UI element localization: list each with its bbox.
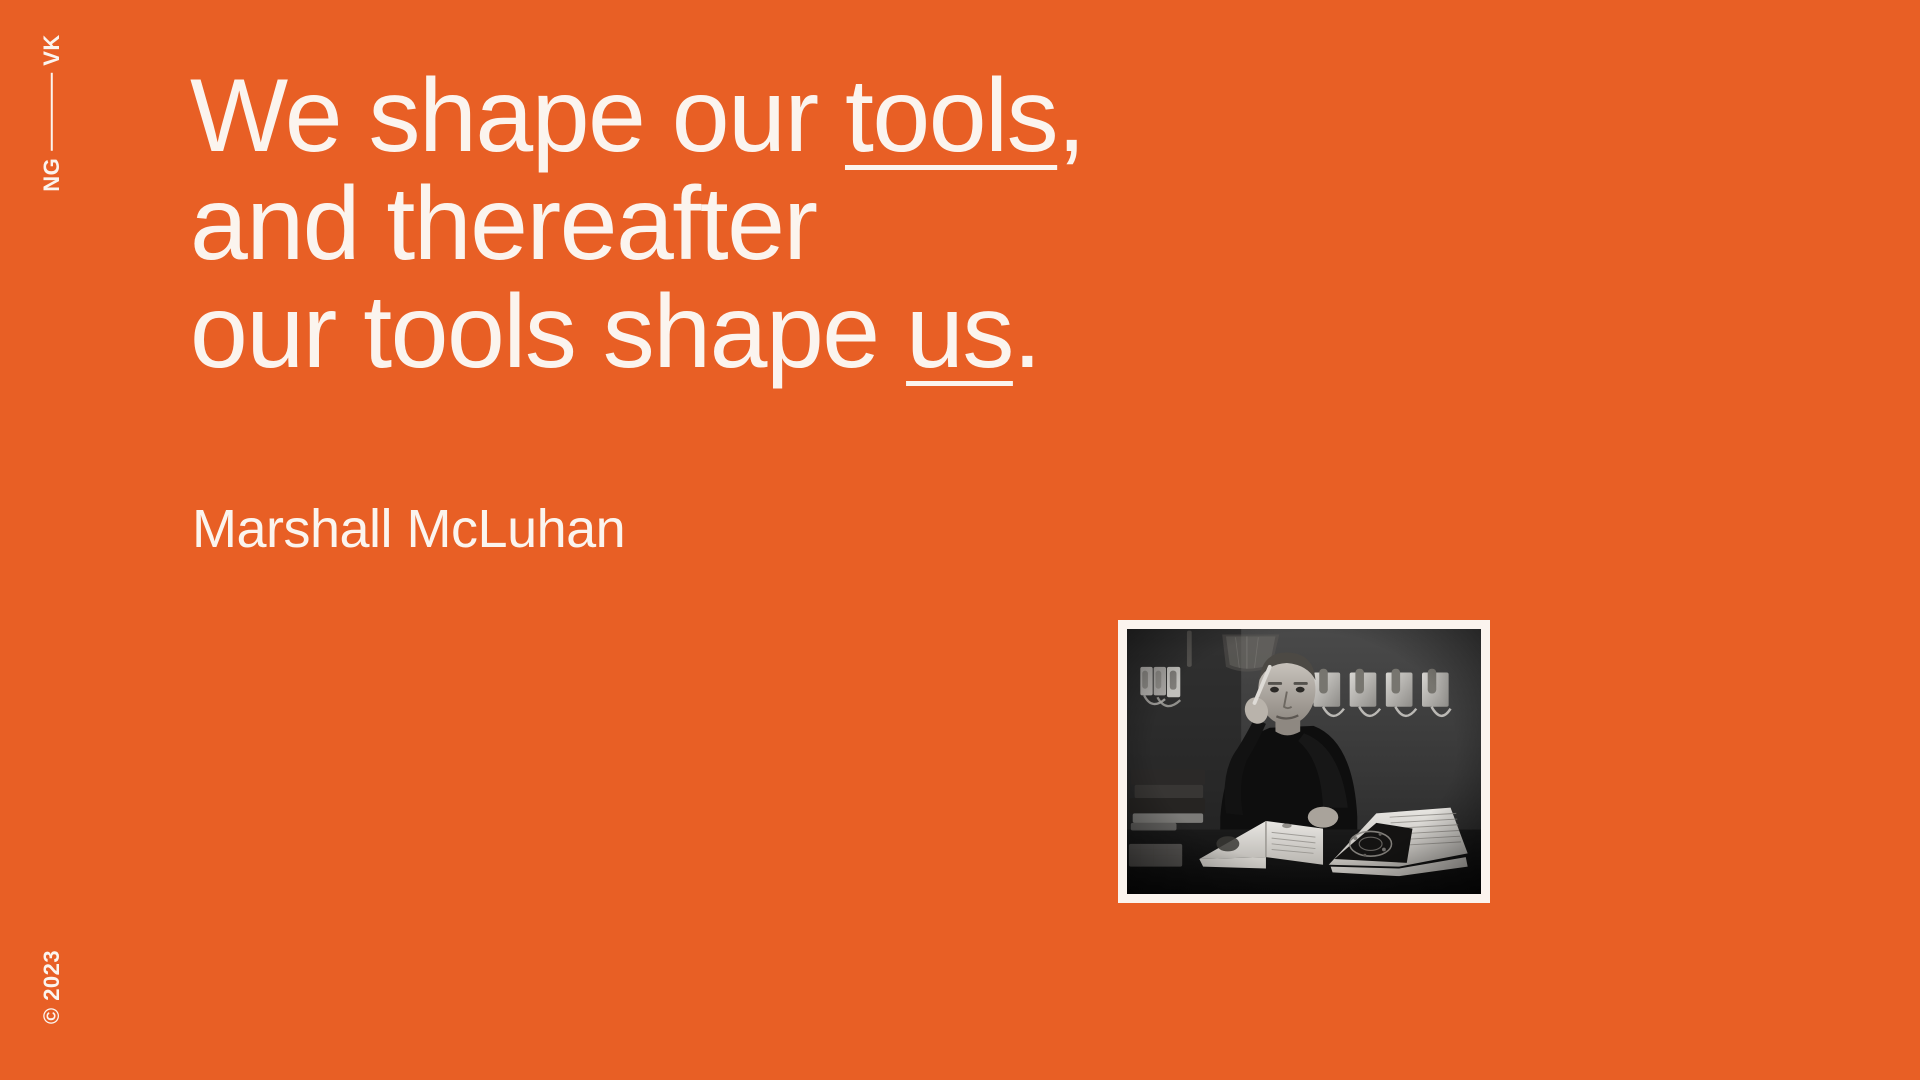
quote-line-3: our tools shape us. <box>190 278 1570 386</box>
quote-line-1-pre: We shape our <box>190 58 845 174</box>
quote-slide: NG VK © 2023 We shape our tools, and the… <box>0 0 1920 1080</box>
quote-line-2: and thereafter <box>190 170 1570 278</box>
brand-mark-text: NG VK <box>41 34 63 192</box>
quote-emphasis-tools: tools <box>845 58 1057 174</box>
brand-mark-rule <box>51 73 53 151</box>
photo-image <box>1127 629 1481 894</box>
quote-line-1: We shape our tools, <box>190 62 1570 170</box>
quote-line-3-post: . <box>1013 274 1040 390</box>
brand-mark-left-label: NG <box>41 158 63 192</box>
quote-emphasis-us: us <box>906 274 1013 390</box>
photo-frame <box>1118 620 1490 903</box>
photo-illustration <box>1127 629 1481 894</box>
quote-line-3-pre: our tools shape <box>190 274 906 390</box>
copyright-text: © 2023 <box>41 950 63 1024</box>
quote-block: We shape our tools, and thereafter our t… <box>190 62 1570 386</box>
copyright-mark: © 2023 <box>28 922 76 1052</box>
brand-mark-right-label: VK <box>41 34 63 66</box>
quote-attribution: Marshall McLuhan <box>192 498 625 560</box>
brand-mark: NG VK <box>28 18 76 208</box>
quote-line-1-post: , <box>1057 58 1084 174</box>
